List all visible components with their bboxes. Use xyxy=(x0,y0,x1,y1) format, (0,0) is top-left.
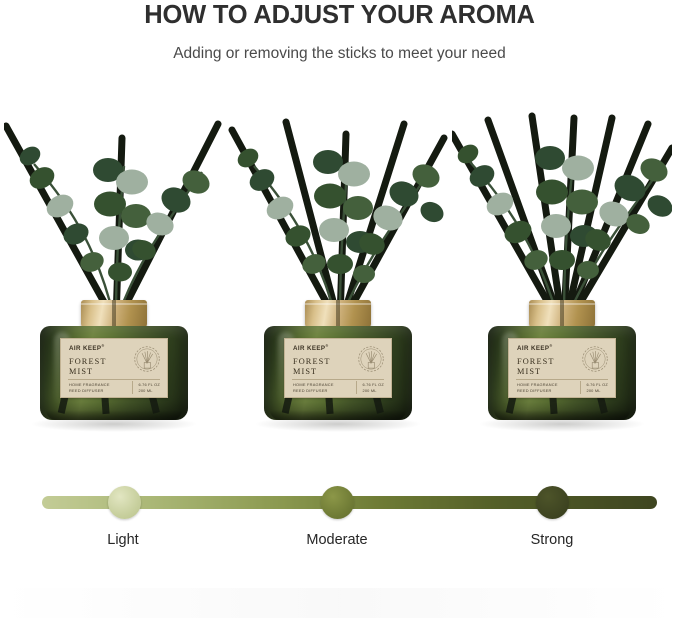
label-vertical-divider xyxy=(580,381,581,394)
collar-split xyxy=(560,300,564,328)
label-brand: AIR KEEP® xyxy=(517,344,553,352)
collar-split xyxy=(336,300,340,328)
diffuser-bottle: AIR KEEP® FOREST MIST HOME FRAGRANCE REE… xyxy=(488,318,636,420)
diffuser-bottle: AIR KEEP® FOREST MIST HOME FRAGRANCE REE… xyxy=(40,318,188,420)
product-comparison-row: AIR KEEP® FOREST MIST HOME FRAGRANCE REE… xyxy=(0,108,679,448)
label-vertical-divider xyxy=(356,381,357,394)
label-description: HOME FRAGRANCE REED DIFFUSER xyxy=(517,382,558,393)
diffuser-unit-strong: AIR KEEP® FOREST MIST HOME FRAGRANCE REE… xyxy=(452,108,672,448)
page-title: HOW TO ADJUST YOUR AROMA xyxy=(0,0,679,30)
label-divider xyxy=(516,379,608,380)
diffuser-unit-light: AIR KEEP® FOREST MIST HOME FRAGRANCE REE… xyxy=(4,108,224,448)
diffuser-unit-moderate: AIR KEEP® FOREST MIST HOME FRAGRANCE REE… xyxy=(228,108,448,448)
label-volume: 6.76 FL OZ 200 ML xyxy=(586,382,608,393)
label-divider xyxy=(292,379,384,380)
intensity-marker-light[interactable] xyxy=(108,486,141,519)
aroma-adjustment-infographic: HOW TO ADJUST YOUR AROMA Adding or remov… xyxy=(0,0,679,618)
label-description: HOME FRAGRANCE REED DIFFUSER xyxy=(293,382,334,393)
product-label: AIR KEEP® FOREST MIST HOME FRAGRANCE REE… xyxy=(284,338,392,398)
intensity-label-strong: Strong xyxy=(472,532,632,548)
intensity-label-light: Light xyxy=(43,532,203,548)
reed-diffuser-stamp-emblem-icon xyxy=(581,345,609,373)
collar-split xyxy=(112,300,116,328)
intensity-marker-strong[interactable] xyxy=(536,486,569,519)
header: HOW TO ADJUST YOUR AROMA Adding or remov… xyxy=(0,0,679,64)
label-volume: 6.76 FL OZ 200 ML xyxy=(362,382,384,393)
aroma-intensity-scale: Light Moderate Strong xyxy=(0,470,679,580)
product-label: AIR KEEP® FOREST MIST HOME FRAGRANCE REE… xyxy=(508,338,616,398)
product-label: AIR KEEP® FOREST MIST HOME FRAGRANCE REE… xyxy=(60,338,168,398)
label-vertical-divider xyxy=(132,381,133,394)
bottom-gradient-artifact xyxy=(0,588,679,618)
reed-diffuser-stamp-emblem-icon xyxy=(357,345,385,373)
label-brand: AIR KEEP® xyxy=(69,344,105,352)
intensity-marker-moderate[interactable] xyxy=(321,486,354,519)
label-divider xyxy=(68,379,160,380)
label-product-name: FOREST MIST xyxy=(293,357,331,376)
label-brand: AIR KEEP® xyxy=(293,344,329,352)
intensity-label-moderate: Moderate xyxy=(257,532,417,548)
reed-diffuser-stamp-emblem-icon xyxy=(133,345,161,373)
label-description: HOME FRAGRANCE REED DIFFUSER xyxy=(69,382,110,393)
page-subtitle: Adding or removing the sticks to meet yo… xyxy=(0,30,679,64)
diffuser-bottle: AIR KEEP® FOREST MIST HOME FRAGRANCE REE… xyxy=(264,318,412,420)
label-product-name: FOREST MIST xyxy=(69,357,107,376)
label-product-name: FOREST MIST xyxy=(517,357,555,376)
label-volume: 6.76 FL OZ 200 ML xyxy=(138,382,160,393)
